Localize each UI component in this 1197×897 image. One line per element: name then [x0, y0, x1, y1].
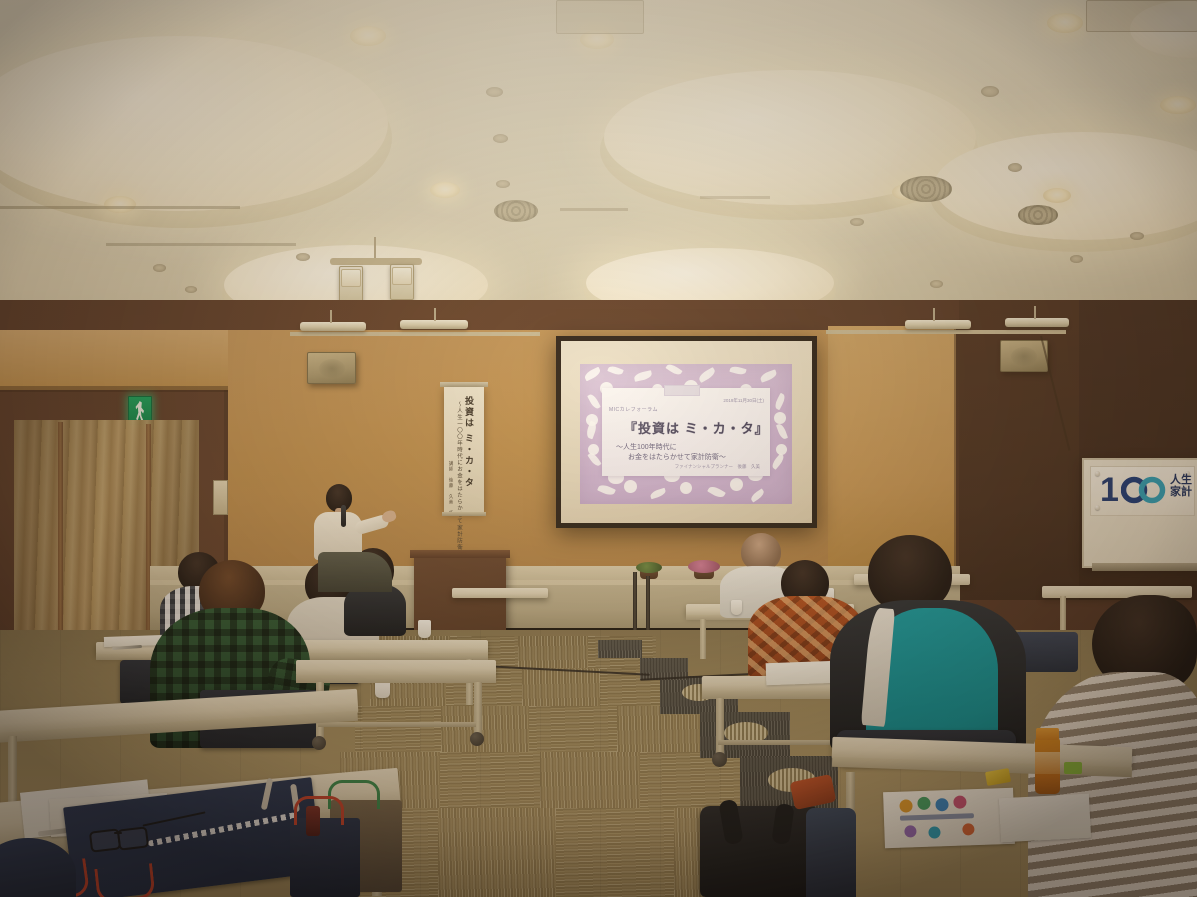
handout-papers [999, 794, 1091, 843]
carpet-tile [529, 706, 617, 752]
lectern-top [410, 550, 510, 558]
brochure-dot [904, 825, 916, 837]
speaker-grill [319, 359, 345, 378]
presenter-microphone [341, 505, 346, 527]
banner-bottom-rod [442, 512, 486, 516]
carpet-tile [441, 706, 529, 752]
colorful-brochure [883, 788, 1015, 849]
speaker-grill-right [1011, 347, 1037, 366]
eyeglasses-bridge [114, 832, 122, 834]
desk-foreground-left-leg [8, 736, 17, 806]
stage-flower-left [636, 562, 662, 573]
exit-running-person-icon [135, 401, 146, 420]
track-light-hanger-1 [330, 310, 332, 323]
track-light-2 [400, 320, 468, 329]
tea-bottle-label [1035, 752, 1060, 774]
sign-board-paper: 1 人生 家計 [1090, 466, 1195, 516]
presenter-lower-body [318, 552, 392, 592]
desk-front-left-bar [318, 722, 476, 727]
carpet-tile [556, 808, 674, 897]
carpet-tile [540, 752, 640, 808]
track-light-1 [300, 322, 366, 331]
stage-front-highlight [150, 580, 960, 585]
brochure-dot [899, 799, 912, 812]
soffit-band-left [0, 330, 228, 390]
sign-logo-digit: 1 [1100, 473, 1117, 507]
paper-cup [418, 620, 431, 638]
brochure-title-bar [900, 813, 974, 821]
track-light-3 [905, 320, 971, 329]
brochure-dot [953, 795, 966, 808]
tote-bag-navy-small [290, 818, 360, 897]
track-light-hanger-2 [434, 308, 436, 321]
pendant-lamp-glass-2 [392, 267, 412, 285]
carpet-tile [355, 706, 441, 752]
brochure-dot [928, 826, 940, 838]
desk-caster [712, 752, 727, 767]
track-light-hanger-4 [1034, 306, 1036, 319]
desk-front-left-edge [296, 675, 496, 683]
sign-japanese-text: 人生 家計 [1170, 475, 1192, 498]
handout-papers [766, 661, 839, 685]
carpet-accent-tile-2 [700, 712, 790, 758]
carpet-tile [518, 636, 588, 668]
tote-print-text [148, 812, 296, 847]
light-track-bar-right [826, 330, 1066, 334]
sign-board-100: 1 人生 家計 [1082, 458, 1197, 568]
wall-speaker [307, 352, 356, 384]
eyeglasses-right-lens [117, 826, 149, 850]
desk-front-left [296, 660, 496, 676]
desk-caster [470, 732, 484, 746]
light-track-bar-left [290, 332, 540, 336]
brochure-dot [962, 823, 974, 835]
sign-board-stand [1092, 563, 1197, 571]
desk-back-right-leg-1 [700, 619, 706, 659]
wall-speaker-right [1000, 340, 1048, 372]
tote-bag-handle-right [94, 863, 155, 897]
banner-main-text: 投資は ミ・カ・タ [463, 396, 476, 489]
stage-flower-right [688, 560, 720, 573]
paper-cup [731, 600, 742, 615]
banner-sub-text: ～人生一〇〇年時代にお金をはたらかせて家計防衛～ [455, 401, 463, 557]
seminar-room-photo: MICカレフォーラム 2019年11月30日(土) 『投資は ミ・カ・タ』 ～人… [0, 0, 1197, 897]
banner-credit-text: 講師 後藤 久美 氏 [448, 461, 454, 516]
desk-caster [312, 736, 326, 750]
green-item [1064, 762, 1082, 774]
carpet-tile [522, 668, 600, 706]
desk-front-left-leg-2 [474, 682, 482, 736]
stage-back-desk-left [452, 588, 548, 598]
ceiling-light-bloom [0, 0, 1197, 345]
brochure-dot [935, 798, 948, 811]
track-light-4 [1005, 318, 1069, 327]
thermos-bottle [306, 806, 320, 836]
track-light-hanger-3 [933, 308, 935, 321]
person-legs-jeans [806, 808, 856, 897]
desk-mid-right-leg-1 [716, 698, 724, 756]
vertical-banner: 投資は ミ・カ・タ ～人生一〇〇年時代にお金をはたらかせて家計防衛～ 講師 後藤… [444, 387, 484, 513]
brochure-dot [917, 797, 930, 810]
wall-switch-plate [213, 480, 228, 515]
desk-mid-center [288, 640, 488, 654]
carpet-accent-tile-4 [598, 640, 642, 658]
soffit-band-left-shadow [0, 386, 228, 392]
desk-mid-center-edge [288, 653, 488, 660]
tea-bottle-cap [1036, 728, 1059, 740]
carpet-tile [438, 808, 556, 897]
sign-logo-loops-icon [1121, 476, 1167, 504]
carpet-tile [440, 752, 540, 808]
projector-glare [580, 364, 792, 504]
pendant-lamp-glass-1 [341, 269, 361, 287]
black-backpack [700, 806, 820, 897]
